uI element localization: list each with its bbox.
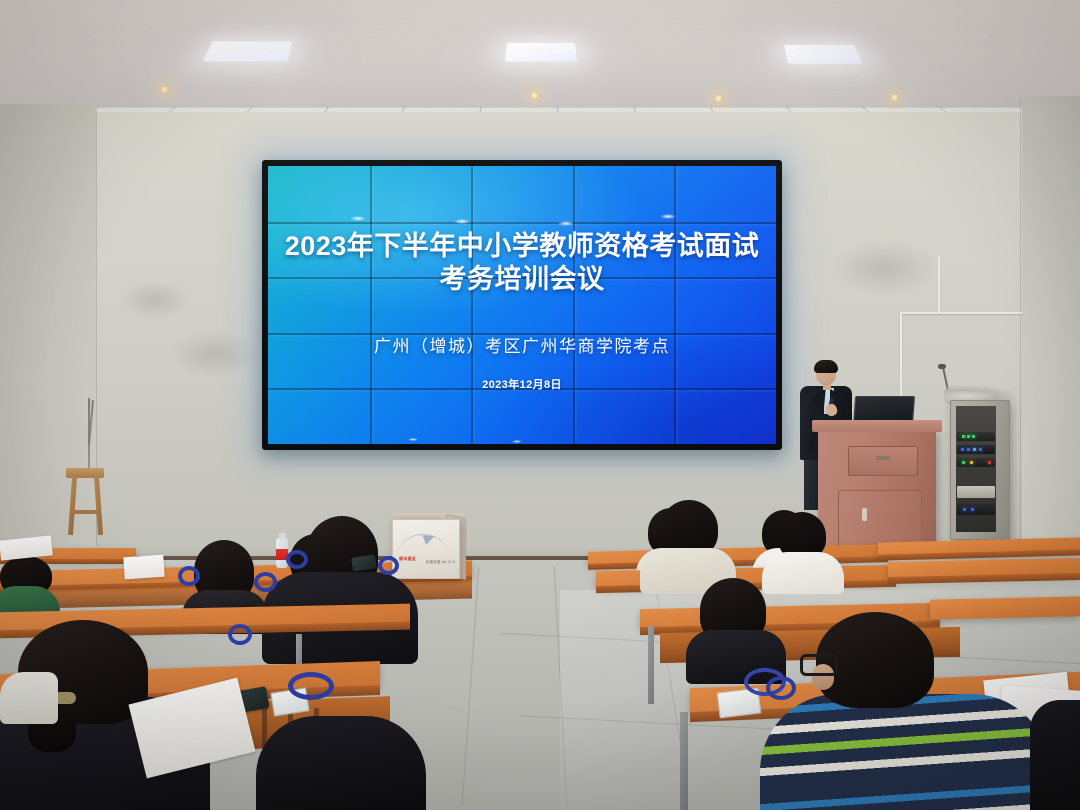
status-led bbox=[962, 461, 965, 464]
podium-door-knob[interactable] bbox=[862, 508, 867, 521]
screen-reflection bbox=[512, 440, 522, 443]
podium-top-surface bbox=[812, 420, 942, 432]
water-bottle-cap bbox=[279, 533, 286, 539]
lanyard bbox=[178, 566, 200, 586]
ceiling-downlight bbox=[714, 95, 723, 102]
screen-reflection bbox=[454, 219, 470, 224]
desk-leg bbox=[648, 626, 654, 704]
screen-reflection bbox=[660, 214, 676, 219]
lanyard bbox=[228, 624, 252, 645]
wall-smudge bbox=[170, 330, 260, 378]
status-led bbox=[973, 448, 976, 451]
screen-reflection bbox=[408, 438, 418, 441]
left-wall bbox=[0, 104, 96, 604]
ceiling-panel-light bbox=[784, 45, 863, 64]
slide-title: 2023年下半年中小学教师资格考试面试 考务培训会议 bbox=[268, 230, 776, 296]
desk-leg bbox=[680, 712, 688, 810]
box-brand-text: 顺丰速运 bbox=[399, 556, 416, 562]
wall-conduit bbox=[900, 312, 1022, 314]
slide-date: 2023年12月8日 bbox=[268, 376, 776, 392]
status-led bbox=[962, 435, 965, 438]
screen-glow bbox=[268, 166, 776, 444]
wall-corner-seam bbox=[1020, 98, 1021, 568]
lanyard bbox=[378, 556, 399, 575]
right-wall-return bbox=[1022, 96, 1080, 566]
status-led bbox=[970, 461, 973, 464]
wall-smudge bbox=[120, 280, 190, 320]
screen-reflection bbox=[350, 216, 366, 221]
audience-torso bbox=[1030, 700, 1080, 810]
lanyard bbox=[254, 572, 277, 592]
status-led bbox=[972, 435, 975, 438]
status-led bbox=[961, 448, 964, 451]
lanyard bbox=[286, 550, 308, 569]
desk-row-2-far-right bbox=[930, 596, 1080, 619]
ceiling-panel-light bbox=[203, 41, 292, 61]
audience-collar bbox=[0, 672, 58, 724]
slide-title-line-2: 考务培训会议 bbox=[268, 263, 776, 296]
audience-torso-striped bbox=[760, 694, 1050, 810]
lanyard bbox=[766, 676, 796, 700]
screen-reflection bbox=[558, 221, 574, 226]
paper-document bbox=[123, 555, 164, 580]
audience-torso bbox=[762, 552, 844, 594]
status-led bbox=[963, 508, 966, 511]
podium-front-panel bbox=[848, 446, 918, 476]
podium-handle[interactable] bbox=[876, 456, 890, 460]
slide-title-line-1: 2023年下半年中小学教师资格考试面试 bbox=[268, 230, 776, 263]
mic-head-icon bbox=[938, 364, 946, 369]
wall-smudge bbox=[830, 240, 940, 296]
presenter-hair bbox=[814, 360, 838, 373]
audience-torso bbox=[256, 716, 426, 810]
ceiling-downlight bbox=[530, 92, 539, 99]
video-wall-display[interactable]: 2023年下半年中小学教师资格考试面试 考务培训会议 广州（增城）考区广州华商学… bbox=[262, 160, 782, 450]
eyeglasses-icon bbox=[800, 654, 838, 676]
ceiling-downlight bbox=[160, 86, 169, 93]
ceiling-downlight bbox=[890, 94, 899, 101]
photograph-canvas: 2023年下半年中小学教师资格考试面试 考务培训会议 广州（增城）考区广州华商学… bbox=[0, 0, 1080, 810]
video-wall-screen: 2023年下半年中小学教师资格考试面试 考务培训会议 广州（增城）考区广州华商学… bbox=[268, 166, 776, 444]
lanyard bbox=[288, 672, 334, 700]
status-led bbox=[967, 435, 970, 438]
status-led bbox=[988, 461, 991, 464]
slide-subtitle: 广州（增城）考区广州华商学院考点 bbox=[268, 332, 776, 357]
ceiling-panel-light bbox=[505, 43, 578, 62]
stool-cross-rail bbox=[70, 510, 100, 514]
rack-unit bbox=[957, 486, 995, 498]
box-size-text: 标准快递 AA 10-3 bbox=[426, 559, 455, 564]
status-led bbox=[967, 448, 970, 451]
wall-conduit bbox=[938, 256, 940, 314]
status-led bbox=[979, 448, 982, 451]
status-led bbox=[971, 508, 974, 511]
